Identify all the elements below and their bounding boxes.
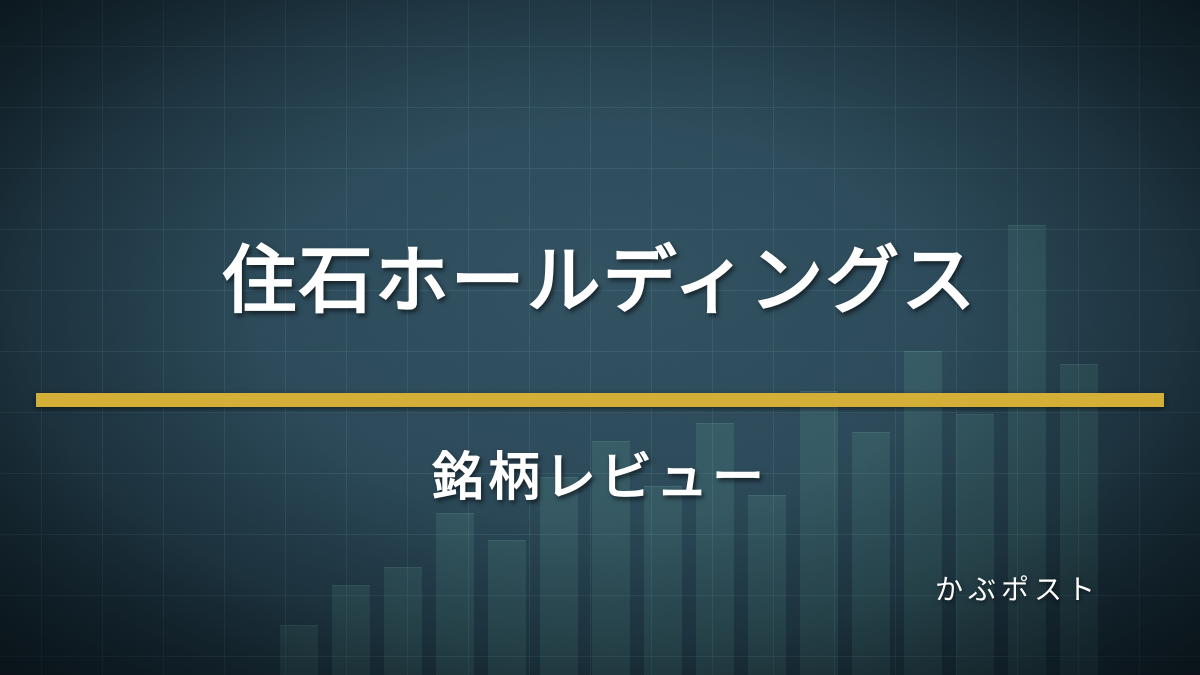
page-title: 住石ホールディングス (0, 244, 1200, 318)
gold-divider-rule (36, 393, 1164, 407)
slide-content: 住石ホールディングス 銘柄レビュー かぶポスト (0, 0, 1200, 675)
page-subtitle: 銘柄レビュー (0, 452, 1200, 504)
slide-canvas: 住石ホールディングス 銘柄レビュー かぶポスト (0, 0, 1200, 675)
attribution-label: かぶポスト (935, 576, 1100, 604)
